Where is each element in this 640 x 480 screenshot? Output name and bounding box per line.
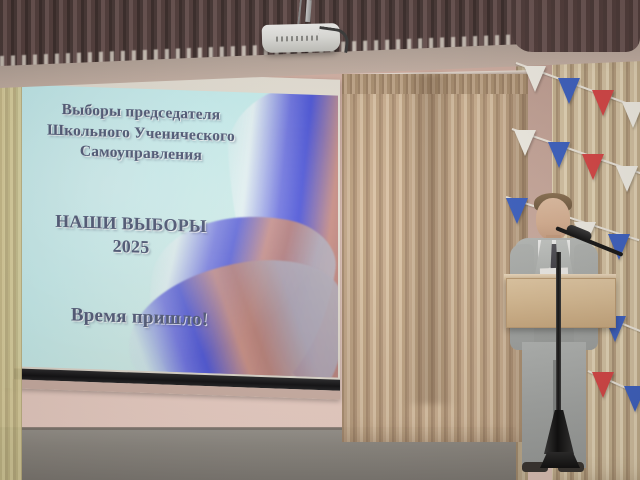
- dark-pleated-pelmet-right: [512, 0, 640, 52]
- assembly-hall-photo: Выборы председателя Школьного Ученическо…: [0, 0, 640, 480]
- bunting-flag: [558, 78, 580, 104]
- bunting-flag: [582, 154, 604, 180]
- slide-headline: НАШИ ВЫБОРЫ 2025: [16, 208, 246, 262]
- bunting-flag: [524, 66, 546, 92]
- bunting-flag: [592, 90, 614, 116]
- slide-text-layer: Выборы председателя Школьного Ученическо…: [16, 84, 338, 377]
- left-sheer-strip: [0, 60, 22, 480]
- projected-slide: Выборы председателя Школьного Ученическо…: [16, 84, 338, 377]
- bunting-flag: [548, 142, 570, 168]
- bunting-flag: [624, 386, 640, 412]
- bunting-flag: [608, 234, 630, 260]
- bunting-flag: [514, 130, 536, 156]
- slide-call-to-action: Время пришло!: [22, 303, 257, 333]
- bunting-flag: [622, 102, 640, 128]
- bunting-flag: [616, 166, 638, 192]
- projection-screen: Выборы председателя Школьного Ученическо…: [4, 68, 340, 400]
- slide-title: Выборы председателя Школьного Ученическо…: [16, 98, 266, 169]
- speaker-podium: [506, 278, 616, 328]
- sheer-curtain-shadow: [404, 74, 456, 404]
